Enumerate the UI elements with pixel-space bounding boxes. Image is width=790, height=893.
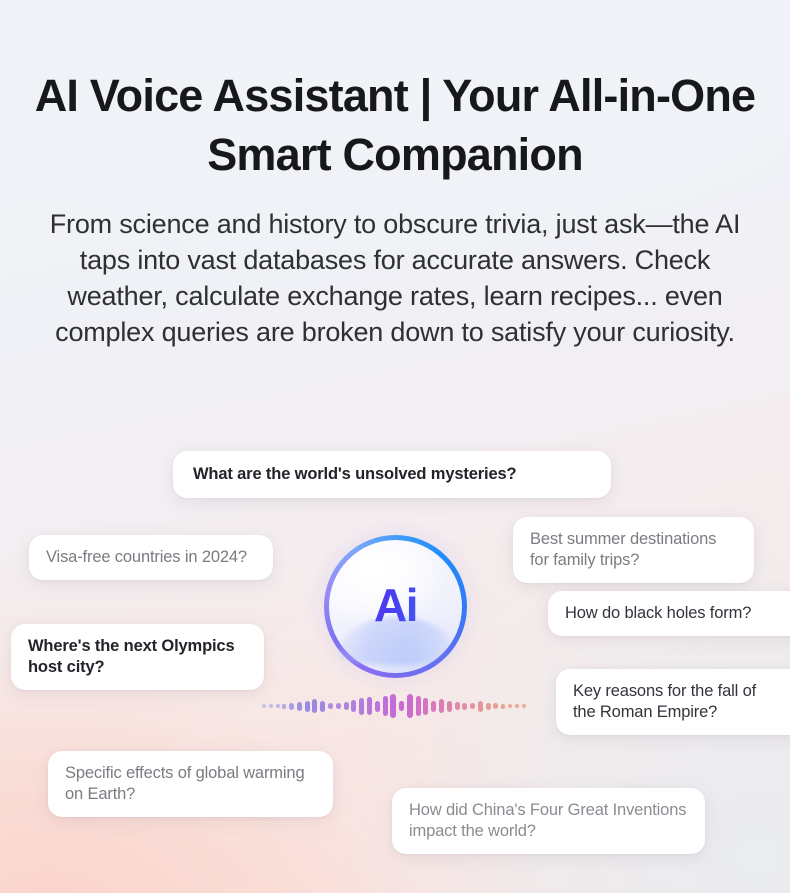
waveform-bar (383, 696, 388, 716)
waveform-bar (399, 701, 404, 711)
waveform-bar (328, 703, 333, 709)
promo-page: AI Voice Assistant | Your All-in-One Sma… (0, 0, 790, 893)
waveform-bar (423, 698, 428, 715)
waveform-bar (470, 703, 475, 709)
waveform-bar (501, 704, 505, 709)
waveform-bar (269, 704, 273, 708)
question-bubble-visa[interactable]: Visa-free countries in 2024? (29, 535, 273, 580)
waveform-bar (439, 699, 444, 713)
waveform-bar (359, 698, 364, 715)
waveform-bar (297, 702, 302, 711)
waveform-bar (493, 703, 498, 709)
ai-orb[interactable]: Ai (324, 535, 467, 678)
waveform-bar (344, 702, 349, 710)
waveform-bar (508, 704, 512, 708)
waveform-bar (262, 704, 266, 708)
waveform-bar (416, 696, 421, 716)
waveform-bar (367, 697, 372, 715)
question-bubble-summer-destinations[interactable]: Best summer destinations for family trip… (513, 517, 754, 583)
waveform-bar (351, 700, 356, 712)
header: AI Voice Assistant | Your All-in-One Sma… (0, 0, 790, 350)
waveform-bar (289, 703, 294, 710)
ai-orb-label: Ai (324, 535, 467, 678)
waveform-bar (522, 704, 526, 708)
waveform-bar (336, 703, 341, 709)
page-title: AI Voice Assistant | Your All-in-One Sma… (24, 66, 766, 184)
waveform-bar (515, 704, 519, 708)
waveform-bar (486, 703, 491, 710)
waveform-bar (312, 699, 317, 713)
question-bubble-global-warming[interactable]: Specific effects of global warming on Ea… (48, 751, 333, 817)
question-bubble-olympics[interactable]: Where's the next Olympics host city? (11, 624, 264, 690)
question-bubble-black-holes[interactable]: How do black holes form? (548, 591, 790, 636)
waveform-bar (282, 704, 286, 709)
waveform-bar (447, 701, 452, 712)
question-bubble-mysteries[interactable]: What are the world's unsolved mysteries? (173, 451, 611, 498)
waveform-bar (407, 694, 413, 718)
waveform-bar (455, 702, 460, 710)
page-subtitle: From science and history to obscure triv… (24, 206, 766, 350)
question-bubble-roman-empire[interactable]: Key reasons for the fall of the Roman Em… (556, 669, 790, 735)
waveform-bar (478, 701, 483, 712)
waveform-bar (276, 704, 280, 708)
waveform-bar (320, 701, 325, 712)
waveform-bar (390, 694, 396, 718)
waveform-bar (375, 701, 380, 712)
waveform-bar (431, 701, 436, 712)
question-bubble-china-inventions[interactable]: How did China's Four Great Inventions im… (392, 788, 705, 854)
waveform-bar (305, 701, 310, 712)
waveform-bar (462, 703, 467, 710)
voice-waveform (262, 694, 526, 718)
